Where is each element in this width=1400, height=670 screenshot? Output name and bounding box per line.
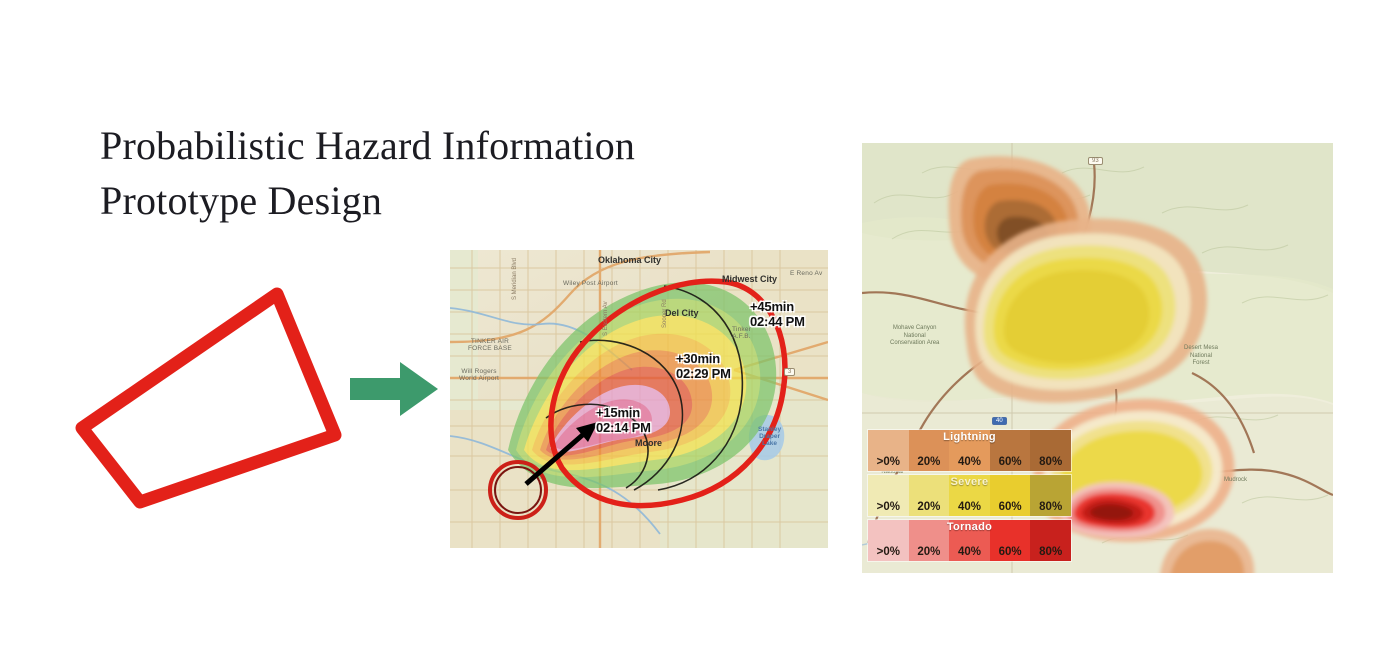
slide-canvas: Probabilistic Hazard Information Prototy… (0, 0, 1400, 670)
hazard-legend-stack: >0% 20% 40% 60% 80% Lightning >0% 20% 40… (868, 430, 1071, 565)
lightning-legend[interactable]: >0% 20% 40% 60% 80% Lightning (868, 430, 1071, 471)
severe-legend[interactable]: >0% 20% 40% 60% 80% Severe (868, 475, 1071, 516)
callout-45min: +45min 02:44 PM (750, 300, 805, 329)
tornado-legend[interactable]: >0% 20% 40% 60% 80% Tornado (868, 520, 1071, 561)
right-arrow-icon (346, 356, 442, 422)
severe-legend-title: Severe (868, 476, 1071, 488)
tornado-legend-title: Tornado (868, 521, 1071, 533)
multi-hazard-probability-plume-map[interactable]: Mohave Canyon National Conservation Area… (862, 143, 1333, 573)
lightning-legend-title: Lightning (868, 431, 1071, 443)
probabilistic-hazard-swath-map[interactable]: Oklahoma City Midwest City Del City Moor… (450, 250, 828, 548)
callout-30min: +30min 02:29 PM (676, 352, 731, 381)
arrow-shape (350, 362, 438, 416)
swath-map-graphics (450, 250, 828, 548)
warning-polygon-outline (82, 294, 335, 502)
page-title: Probabilistic Hazard Information Prototy… (100, 118, 760, 228)
callout-15min: +15min 02:14 PM (596, 406, 651, 435)
deterministic-warning-polygon (60, 280, 360, 510)
